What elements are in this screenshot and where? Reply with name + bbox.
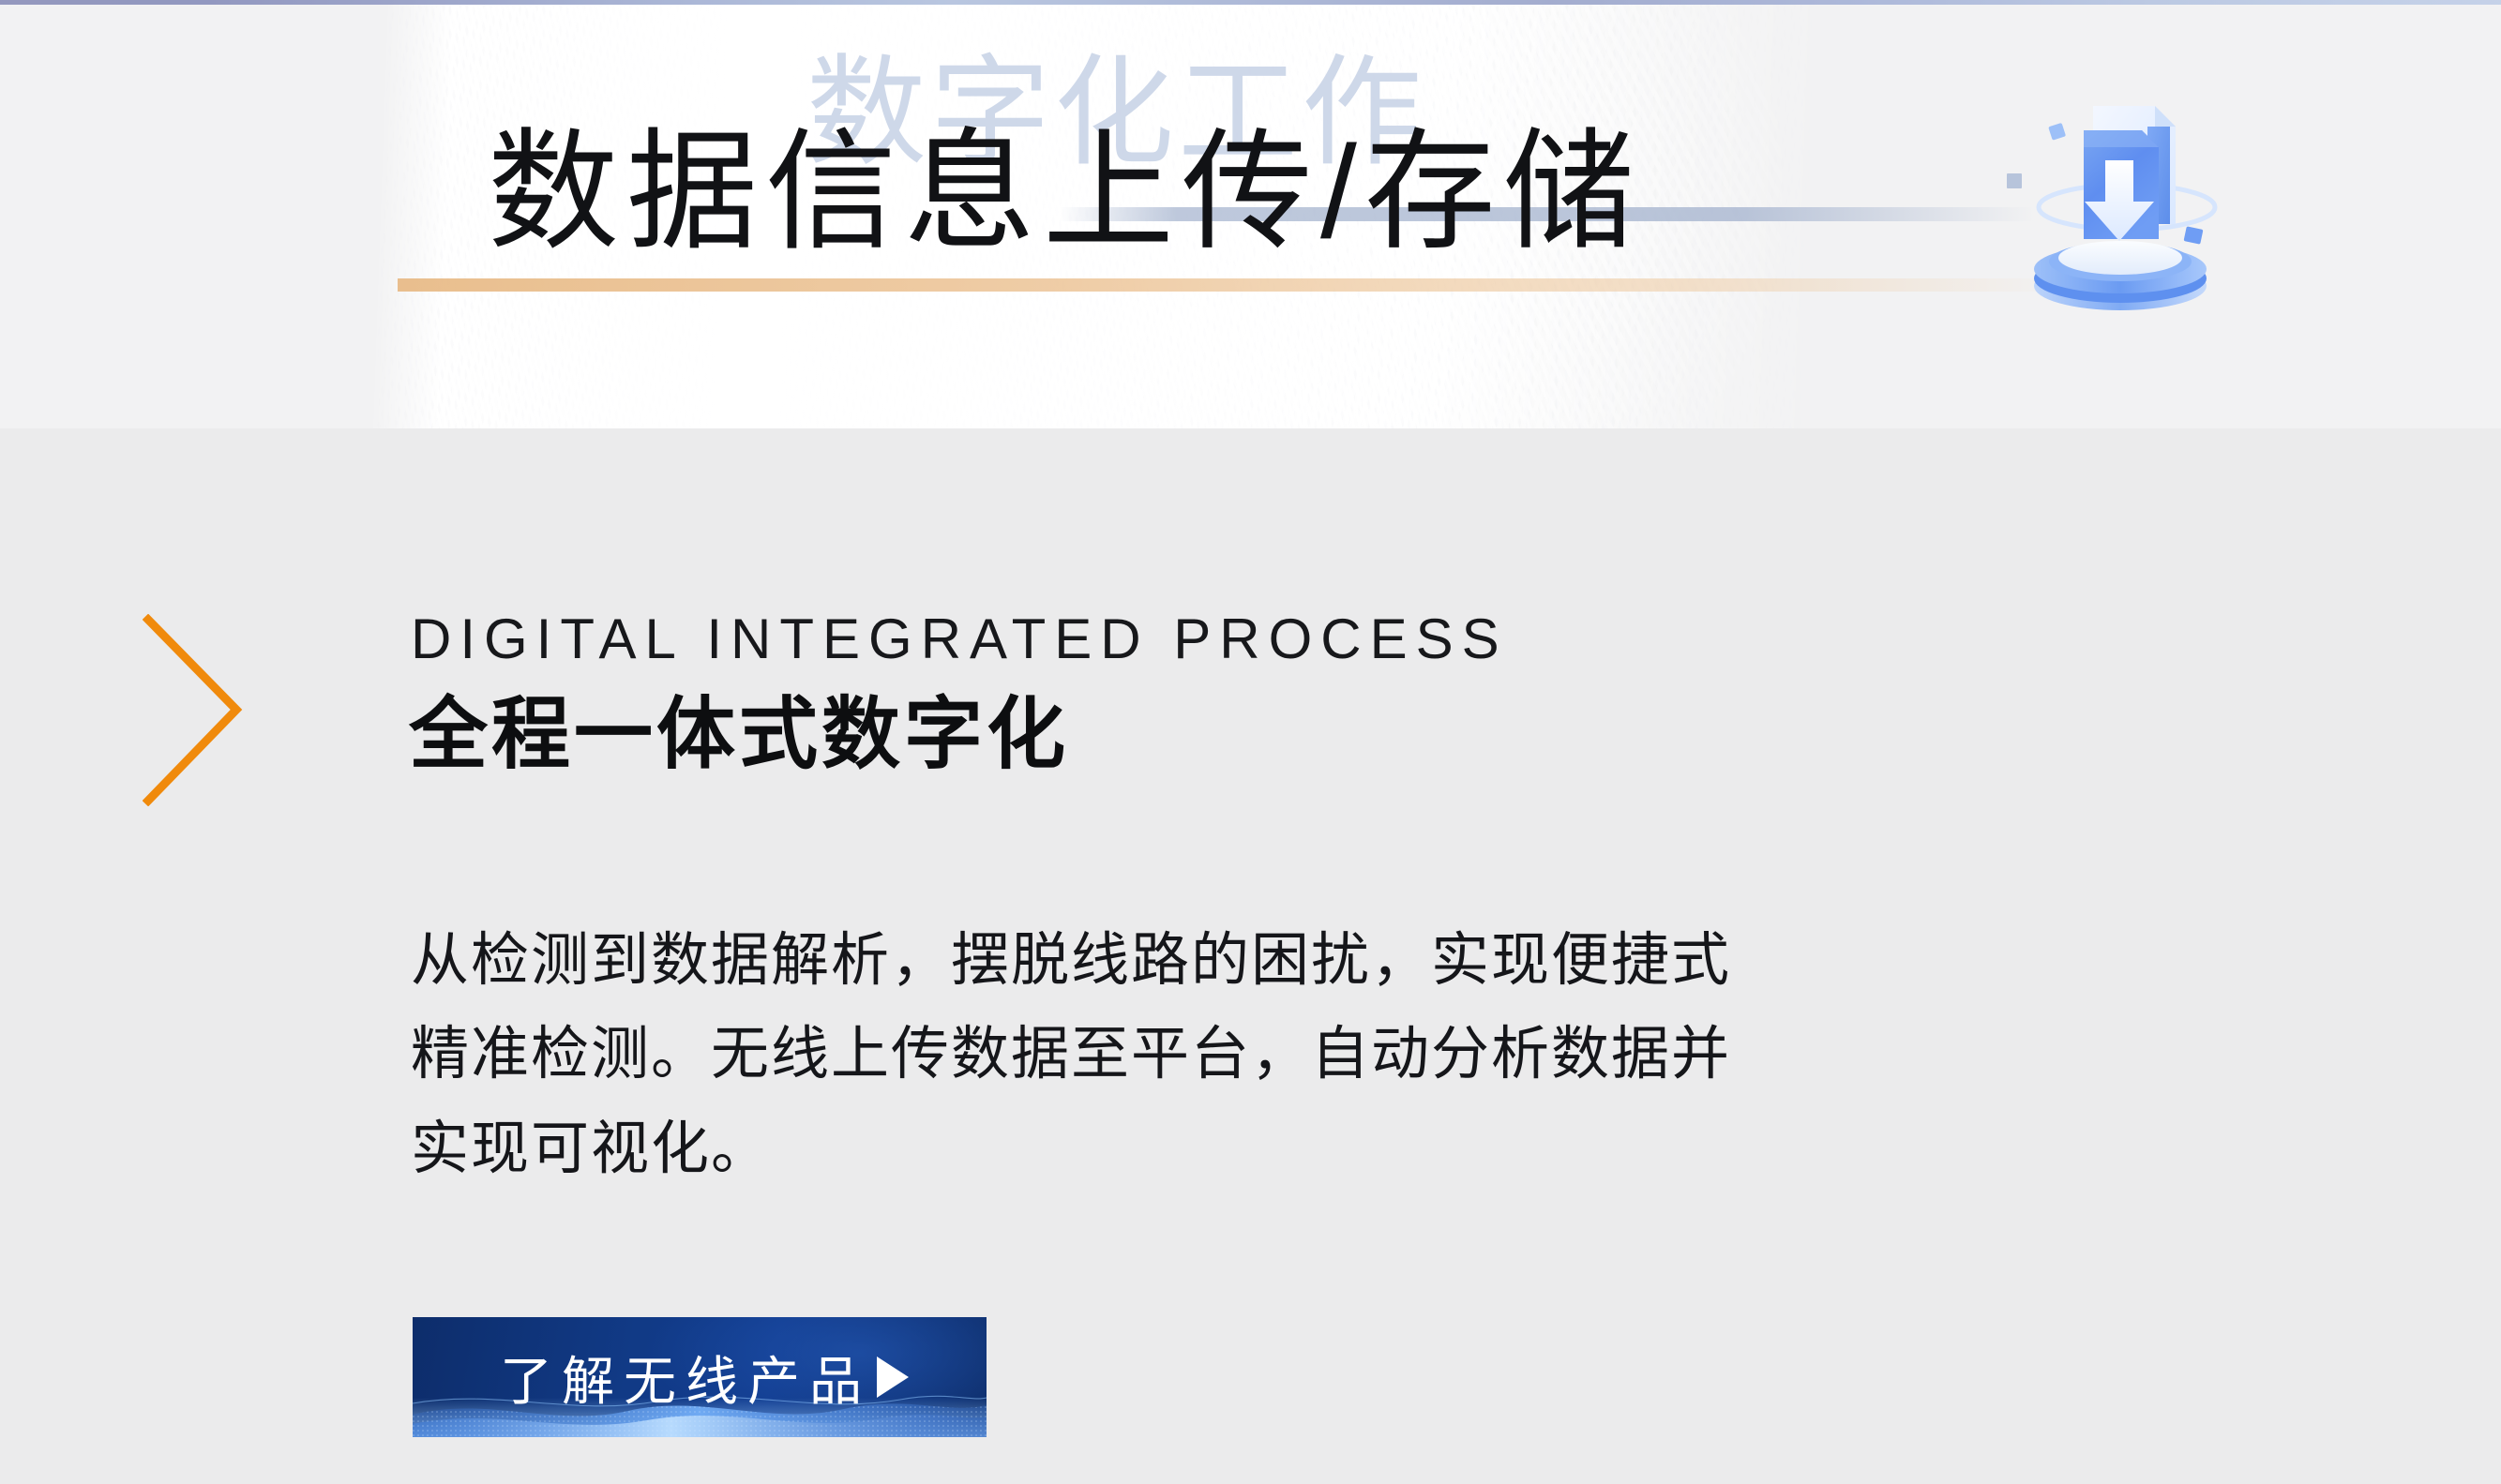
paragraph-line: 实现可视化。	[411, 1102, 2399, 1196]
paragraph-line: 精准检测。无线上传数据至平台，自动分析数据并	[411, 1008, 2399, 1102]
play-triangle-icon	[877, 1357, 909, 1398]
page-title: 数据信息上传/存储	[488, 127, 1642, 258]
learn-wireless-products-button[interactable]: 了解无线产品	[413, 1317, 987, 1437]
section-paragraph: 从检测到数据解析，摆脱线路的困扰，实现便捷式 精准检测。无线上传数据至平台，自动…	[411, 914, 2399, 1196]
download-document-3d-icon	[2007, 68, 2279, 312]
paragraph-line: 从检测到数据解析，摆脱线路的困扰，实现便捷式	[411, 914, 2399, 1008]
section-subheading: 全程一体式数字化	[409, 692, 1069, 777]
section-eyebrow: DIGITAL INTEGRATED PROCESS	[411, 609, 1508, 668]
title-underline-bar	[398, 278, 2067, 292]
header-band: 数字化工作 数据信息上传/存储	[0, 5, 2501, 428]
slide-root: 数字化工作 数据信息上传/存储	[0, 0, 2501, 1484]
cta-label: 了解无线产品	[490, 1340, 871, 1416]
chevron-right-icon	[143, 614, 244, 806]
